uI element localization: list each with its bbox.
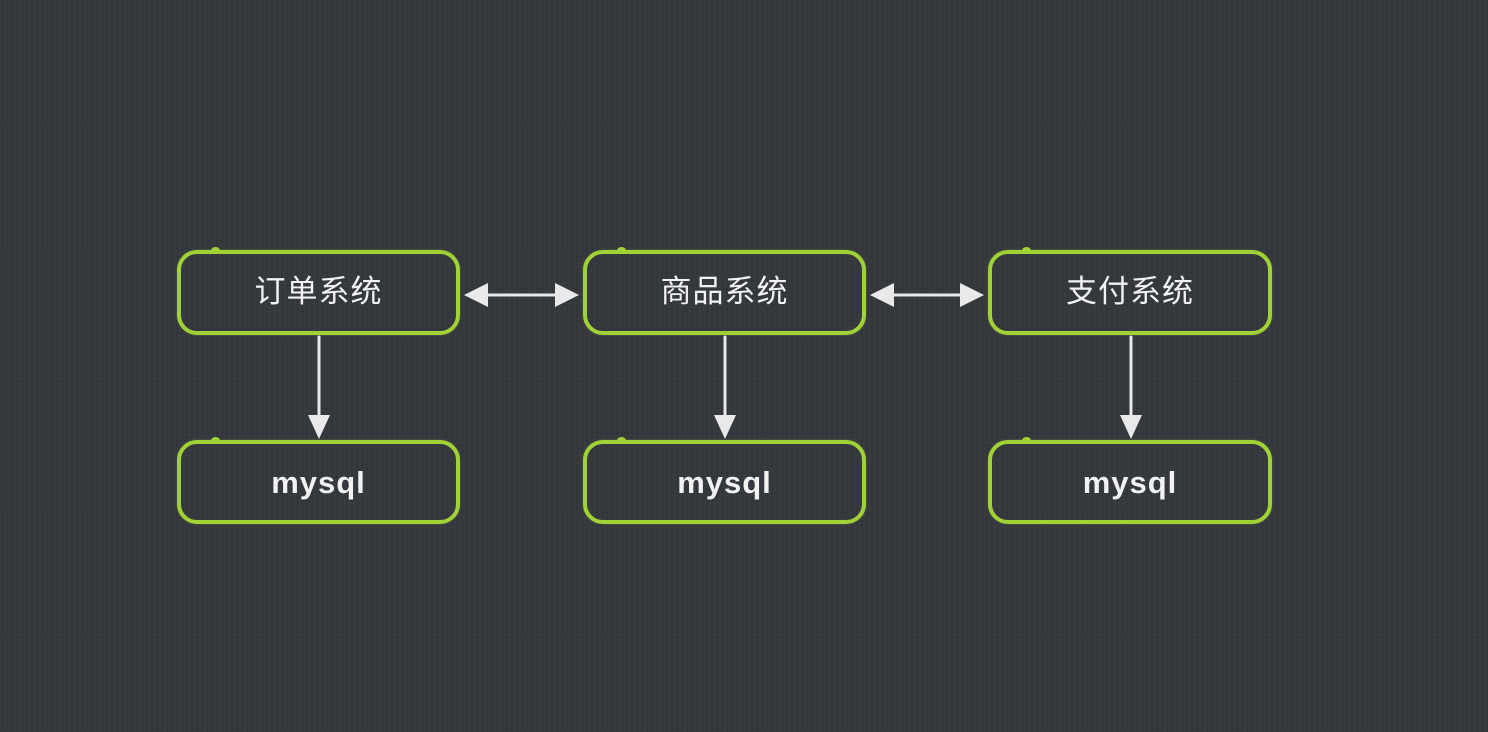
node-payment-mysql-label: mysql bbox=[1083, 467, 1178, 498]
node-payment-system-label: 支付系统 bbox=[1066, 277, 1194, 308]
node-order-mysql[interactable]: mysql bbox=[177, 440, 460, 524]
edge-product-db bbox=[710, 333, 740, 443]
edge-product-payment bbox=[866, 275, 988, 315]
node-product-mysql[interactable]: mysql bbox=[583, 440, 866, 524]
edge-order-db bbox=[304, 333, 334, 443]
node-order-system[interactable]: 订单系统 bbox=[177, 250, 460, 335]
node-order-mysql-label: mysql bbox=[271, 467, 366, 498]
node-order-system-label: 订单系统 bbox=[255, 277, 383, 308]
edge-payment-db bbox=[1116, 333, 1146, 443]
node-product-mysql-label: mysql bbox=[677, 467, 772, 498]
node-payment-system[interactable]: 支付系统 bbox=[988, 250, 1272, 335]
diagram-canvas: 订单系统 商品系统 支付系统 mysql mysql mysql bbox=[0, 0, 1488, 732]
node-product-system-label: 商品系统 bbox=[661, 277, 789, 308]
node-payment-mysql[interactable]: mysql bbox=[988, 440, 1272, 524]
node-product-system[interactable]: 商品系统 bbox=[583, 250, 866, 335]
edge-order-product bbox=[460, 275, 583, 315]
